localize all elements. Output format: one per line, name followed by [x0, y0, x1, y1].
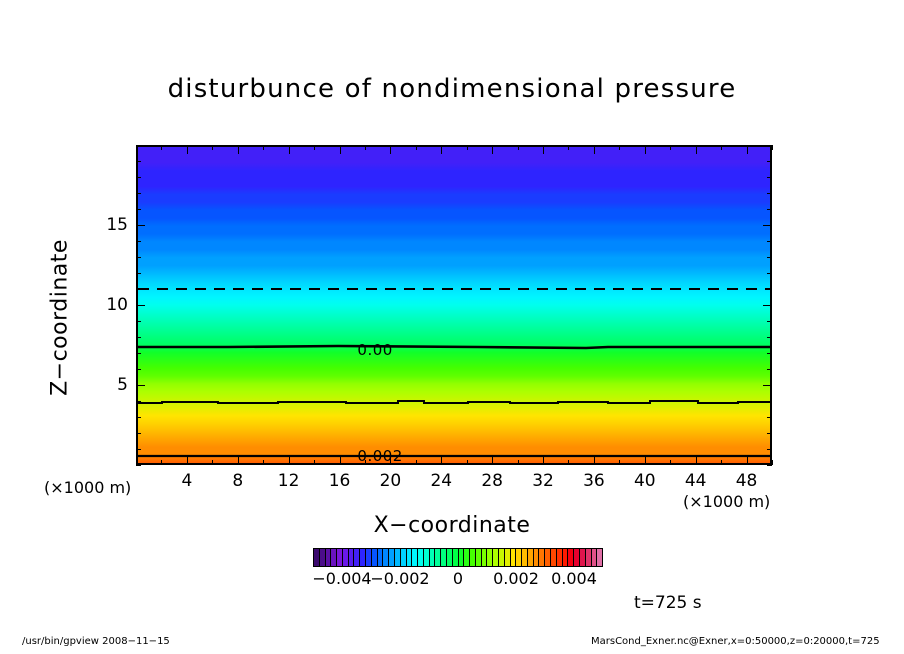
x-tick-top — [187, 145, 188, 154]
y-tick-right — [767, 401, 772, 402]
y-tick-right — [767, 177, 772, 178]
y-tick-left — [136, 401, 141, 402]
x-tick-top — [212, 145, 213, 150]
x-tick-label: 40 — [634, 471, 656, 491]
x-tick-top — [263, 145, 264, 150]
y-tick-right — [763, 385, 772, 386]
y-tick-right — [767, 145, 772, 146]
x-tick-top — [314, 145, 315, 150]
footer-datasource: MarsCond_Exner.nc@Exner,x=0:50000,z=0:20… — [591, 636, 880, 647]
x-tick-top — [492, 145, 493, 154]
x-tick-bottom — [416, 460, 417, 465]
y-tick-left — [136, 289, 141, 290]
x-tick-bottom — [568, 460, 569, 465]
x-tick-top — [467, 145, 468, 150]
colorbar-tick-label: 0 — [453, 569, 463, 588]
y-tick-left — [136, 449, 141, 450]
y-tick-left — [136, 241, 141, 242]
x-tick-label: 16 — [329, 471, 351, 491]
x-tick-label: 32 — [532, 471, 554, 491]
y-tick-left — [136, 225, 145, 226]
y-tick-right — [767, 417, 772, 418]
x-tick-bottom — [340, 456, 341, 465]
y-tick-left — [136, 353, 141, 354]
y-axis-title: Z−coordinate — [48, 203, 73, 433]
x-axis-unit-right: (×1000 m) — [683, 492, 770, 511]
x-tick-top — [161, 145, 162, 150]
colorbar-tick-label: 0.004 — [551, 569, 597, 588]
contour-lines-overlay — [138, 147, 770, 463]
colorbar-tick-label: 0.002 — [493, 569, 539, 588]
y-tick-right — [767, 337, 772, 338]
x-axis-title: X−coordinate — [0, 513, 904, 538]
y-tick-left — [136, 385, 145, 386]
y-tick-left — [136, 273, 141, 274]
x-tick-bottom — [696, 456, 697, 465]
colorbar-swatches — [313, 548, 603, 567]
x-tick-label: 48 — [736, 471, 758, 491]
y-tick-left — [136, 145, 141, 146]
x-tick-bottom — [467, 460, 468, 465]
x-tick-top — [365, 145, 366, 150]
y-tick-right — [767, 161, 772, 162]
x-tick-top — [568, 145, 569, 150]
x-tick-bottom — [619, 460, 620, 465]
x-tick-top — [543, 145, 544, 154]
x-tick-bottom — [390, 456, 391, 465]
y-tick-label: 5 — [88, 375, 128, 395]
x-tick-top — [416, 145, 417, 150]
y-tick-label: 10 — [88, 295, 128, 315]
y-tick-left — [136, 305, 145, 306]
y-tick-left — [136, 257, 141, 258]
x-axis-unit-left: (×1000 m) — [44, 478, 131, 497]
y-tick-left — [136, 177, 141, 178]
x-tick-bottom — [441, 456, 442, 465]
x-tick-bottom — [747, 456, 748, 465]
page-title: disturbunce of nondimensional pressure — [0, 74, 904, 104]
x-tick-bottom — [289, 456, 290, 465]
x-tick-top — [670, 145, 671, 150]
x-tick-top — [645, 145, 646, 154]
y-tick-left — [136, 337, 141, 338]
x-tick-top — [594, 145, 595, 154]
y-tick-right — [767, 433, 772, 434]
x-tick-top — [696, 145, 697, 154]
x-tick-bottom — [543, 456, 544, 465]
y-tick-right — [767, 321, 772, 322]
contour-line-mid — [138, 401, 770, 403]
x-tick-bottom — [161, 460, 162, 465]
x-tick-top — [747, 145, 748, 154]
x-tick-top — [619, 145, 620, 150]
footer-command: /usr/bin/gpview 2008−11−15 — [22, 636, 170, 647]
x-tick-label: 36 — [583, 471, 605, 491]
x-tick-bottom — [314, 460, 315, 465]
colorbar[interactable]: −0.004−0.00200.0020.004 — [313, 548, 603, 567]
x-tick-bottom — [721, 460, 722, 465]
y-tick-left — [136, 417, 141, 418]
x-tick-top — [390, 145, 391, 154]
y-tick-label: 15 — [88, 215, 128, 235]
x-tick-bottom — [187, 456, 188, 465]
x-tick-bottom — [365, 460, 366, 465]
colorbar-tick-label: −0.002 — [370, 569, 429, 588]
y-tick-right — [767, 289, 772, 290]
y-tick-right — [767, 273, 772, 274]
x-tick-top — [772, 145, 773, 150]
x-tick-bottom — [238, 456, 239, 465]
x-tick-bottom — [212, 460, 213, 465]
x-tick-bottom — [670, 460, 671, 465]
y-tick-left — [136, 369, 141, 370]
y-tick-right — [763, 225, 772, 226]
y-tick-right — [767, 369, 772, 370]
y-tick-right — [767, 193, 772, 194]
x-tick-top — [721, 145, 722, 150]
x-tick-label: 44 — [685, 471, 707, 491]
y-tick-left — [136, 193, 141, 194]
y-tick-right — [767, 465, 772, 466]
y-tick-right — [767, 257, 772, 258]
y-tick-right — [767, 449, 772, 450]
y-tick-right — [767, 241, 772, 242]
x-tick-label: 20 — [380, 471, 402, 491]
colorbar-tick-label: −0.004 — [312, 569, 371, 588]
y-tick-left — [136, 209, 141, 210]
contour-line-zero — [138, 346, 770, 348]
x-tick-bottom — [492, 456, 493, 465]
contour-label-zero: 0.00 — [357, 341, 392, 359]
x-tick-top — [238, 145, 239, 154]
x-tick-label: 12 — [278, 471, 300, 491]
x-tick-bottom — [772, 460, 773, 465]
x-tick-bottom — [518, 460, 519, 465]
x-tick-bottom — [263, 460, 264, 465]
contour-plot-area[interactable]: 0.00 0.002 — [136, 145, 772, 465]
colorbar-cell — [597, 549, 602, 566]
x-tick-top — [441, 145, 442, 154]
x-tick-label: 4 — [181, 471, 192, 491]
time-annotation: t=725 s — [634, 593, 702, 613]
y-tick-right — [767, 353, 772, 354]
y-tick-right — [763, 305, 772, 306]
x-tick-label: 24 — [430, 471, 452, 491]
y-tick-right — [767, 209, 772, 210]
x-tick-label: 28 — [481, 471, 503, 491]
x-tick-bottom — [645, 456, 646, 465]
y-tick-left — [136, 465, 141, 466]
x-tick-top — [340, 145, 341, 154]
x-tick-top — [289, 145, 290, 154]
y-tick-left — [136, 321, 141, 322]
x-tick-bottom — [594, 456, 595, 465]
x-tick-label: 8 — [232, 471, 243, 491]
y-tick-left — [136, 161, 141, 162]
x-tick-top — [518, 145, 519, 150]
y-tick-left — [136, 433, 141, 434]
